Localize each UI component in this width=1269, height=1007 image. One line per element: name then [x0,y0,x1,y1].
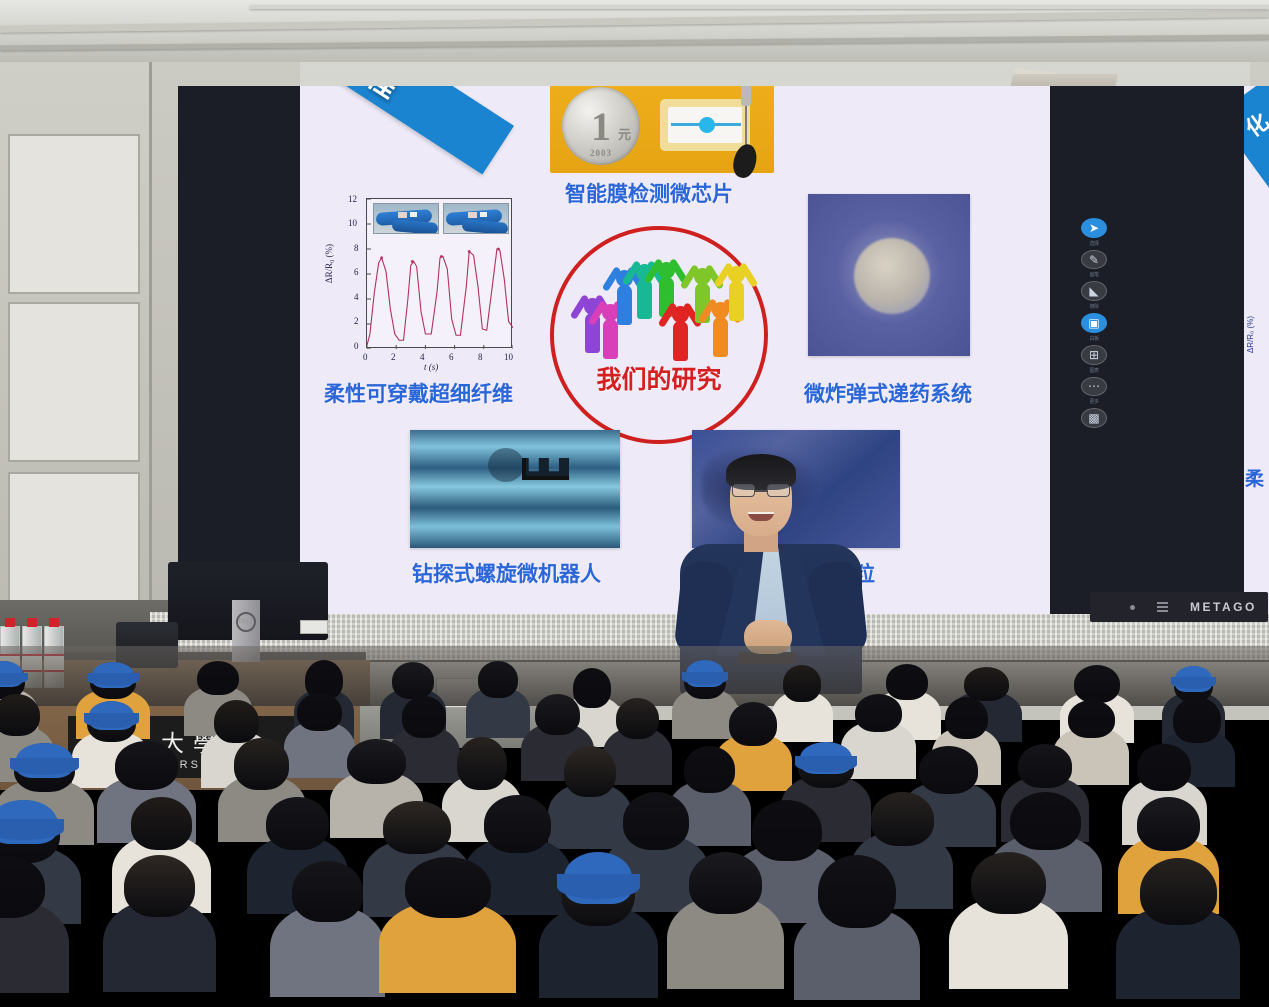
coin-value: 1 [591,103,611,150]
audience-head [297,693,342,731]
audience-member [684,660,725,742]
figure-body [673,321,688,361]
board-glyph: ▣ [1088,316,1099,330]
cursor-icon[interactable]: ➤ [1081,218,1107,238]
audience-member [684,746,736,850]
micro-robot-photo [410,430,620,548]
pen-glyph: ✎ [1089,253,1099,267]
audience-head [1140,858,1217,926]
y-tick: 0 [354,341,359,351]
audience-head [729,702,777,746]
audience-head [1010,792,1081,850]
chip-channel-right [714,123,741,126]
audience-head [197,661,239,696]
eraser-icon[interactable]: ◣ [1081,281,1107,301]
chip-channel-area [668,107,742,143]
x-tick: 10 [504,352,513,362]
chart-x-label: t (s) [424,362,438,372]
audience-head [752,800,822,862]
audience-head [405,857,491,918]
audience-member [971,852,1046,993]
audience-head [383,801,450,854]
audience-head [484,795,551,853]
audience-member [1140,858,1217,1005]
audience-head [347,739,405,784]
coin-unit: 元 [618,124,631,143]
baseball-cap-icon [10,758,79,775]
audience-head [1018,744,1073,788]
dell-logo: DELL [236,612,256,632]
audience-member [729,702,777,795]
qrcode-icon[interactable]: ▩ [1081,408,1107,428]
audience-member [561,852,635,1004]
whiteboard-frame [0,62,152,622]
eraser-glyph: ◣ [1089,284,1098,298]
audience-head [478,661,518,698]
label-fiber: 柔性可穿戴超细纤维 [324,378,513,408]
figure-body [617,285,632,325]
audience-member [478,661,518,741]
coin-year: 2003 [590,148,612,158]
audience-head [945,697,988,740]
audience-head [919,746,978,794]
audience-head [871,792,935,846]
y-tick: 6 [354,267,359,277]
more-label: 更多 [1089,398,1098,405]
slide-banner-text: 化学工程 [300,86,506,173]
audience-head [292,861,364,922]
audience-member [402,696,446,787]
y-tick: 8 [354,243,359,253]
chart-plot-area [366,198,512,348]
eyeglasses-icon [732,484,790,498]
baseball-cap-icon [84,713,139,727]
audience-head [124,855,194,917]
audience-head [971,852,1046,914]
board-label: 白板 [1089,335,1098,342]
whiteboard-panel [8,134,140,294]
more-glyph: ⋯ [1088,379,1100,393]
x-tick: 6 [449,352,454,362]
x-tick: 0 [363,352,368,362]
x-tick: 4 [420,352,425,362]
audience-member [783,665,821,744]
robot-capsule [488,448,524,482]
baseball-cap-icon [795,756,858,772]
audience-head [689,852,762,914]
person-figure [668,306,692,368]
y-tick: 2 [354,316,359,326]
audience-member [616,698,660,788]
label-chip: 智能膜检测微芯片 [565,178,733,208]
audience-member [1068,700,1115,788]
eraser-label: 擦除 [1089,303,1098,310]
audience-member [405,857,491,997]
audience-member [124,855,194,996]
audience-head [818,855,896,928]
audience-head [535,694,580,734]
cursor-glyph: ➤ [1089,221,1099,235]
audience-head [1068,700,1115,739]
label-robot: 钻探式螺旋微机器人 [412,558,601,588]
audience-member [0,856,45,997]
audience-head [266,797,329,850]
figure-body [637,279,652,319]
mic-clip [741,86,751,106]
audience-head [115,741,177,790]
audience-member [689,852,762,994]
helical-robot [522,458,578,480]
figure-body [729,281,744,321]
qrcode-glyph: ▩ [1088,411,1099,425]
circle-caption: 我们的研究 [554,360,764,396]
audience-head [684,746,736,793]
secondary-axis-label: ΔR/R₀ (%) [1246,316,1255,353]
display-brand: METAGO [1190,600,1257,614]
ceiling-rail [250,5,1269,9]
chart-y-label: ΔR/R₀ (%) [324,244,334,283]
whiteboard-panel [8,302,140,462]
board-icon[interactable]: ▣ [1081,313,1107,333]
audience-head [1173,697,1221,743]
display-bezel: METAGO [1090,592,1268,622]
audience-member [564,746,616,854]
more-icon[interactable]: ⋯ [1081,377,1107,397]
secondary-slide-label: 柔 [1245,464,1264,491]
audience-head [855,694,902,732]
audience-member [297,693,342,780]
sensor-response-chart: ΔR/R₀ (%) 12 10 8 6 4 2 0 [328,194,518,374]
lecture-hall-scene: 化学工程 1 元 2003 智能膜检测微芯片 [0,0,1269,952]
audience-member [292,861,364,1001]
microfluidic-chip [660,99,750,151]
audience-head [964,667,1009,701]
chart-line-series [367,199,513,349]
chip-channel-left [671,123,700,126]
audience-member [818,855,896,1007]
people-illustration [580,264,746,360]
baseball-cap-icon [87,673,139,686]
coin-image: 1 元 2003 [562,87,640,165]
drug-delivery-photo [808,194,970,356]
ceiling [0,0,1269,62]
audience-head [564,746,616,797]
microcapsule [854,238,930,314]
desk-plate [300,620,328,634]
y-tick: 10 [348,218,357,228]
audience-head [457,737,507,790]
audience-head [0,694,40,737]
chart-label: 图表 [1089,367,1098,374]
y-tick: 4 [354,292,359,302]
audience-head [783,665,821,701]
audience-head [1137,797,1200,851]
pen-label: 画笔 [1089,271,1098,278]
chart-icon[interactable]: ⊞ [1081,345,1107,365]
audience-member [484,795,551,920]
audience-head [623,792,690,850]
audience-member [855,694,902,782]
person-figure [724,266,748,328]
cursor-label: 选择 [1089,240,1098,247]
secondary-screen: 化 ΔR/R₀ (%) 柔 [1244,86,1269,614]
label-drug: 微炸弹式递药系统 [804,378,972,408]
audience-head [1137,744,1190,791]
audience-head [402,696,446,738]
chart-glyph: ⊞ [1089,348,1099,362]
audience [0,646,1269,952]
microphone [740,86,752,194]
audience-head [1074,665,1120,704]
screen-toolbar[interactable]: ➤ 选择 ✎ 画笔 ◣ 擦除 ▣ 白板 ⊞ 图表 ⋯ 更多 ▩ [1073,218,1115,428]
audience-head [131,797,193,850]
chip-droplet [699,117,715,133]
y-tick: 12 [348,194,357,204]
baseball-cap-icon [682,672,728,685]
power-indicator-icon [1130,605,1135,610]
pen-icon[interactable]: ✎ [1081,250,1107,270]
x-tick: 2 [391,352,396,362]
menu-bars-icon[interactable] [1157,602,1168,612]
audience-head [234,738,289,790]
presentation-slide: 化学工程 1 元 2003 智能膜检测微芯片 [300,86,1050,614]
x-tick: 8 [478,352,483,362]
center-circle-graphic: 我们的研究 [550,226,768,444]
audience-head [392,662,434,699]
audience-head [616,698,660,739]
